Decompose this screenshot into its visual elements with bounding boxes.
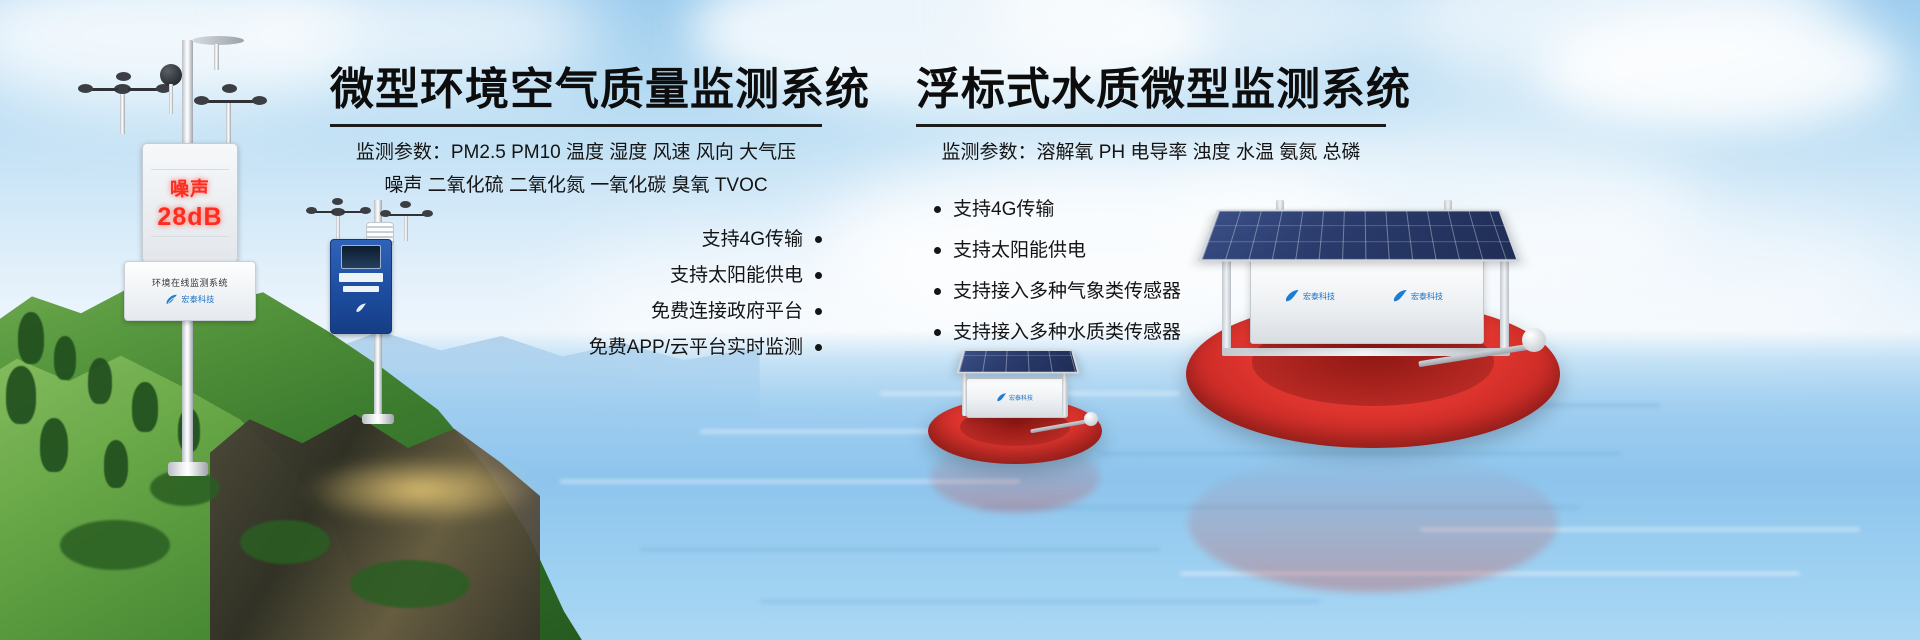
left-panel-title-underline	[330, 124, 822, 127]
list-item: 支持4G传输	[934, 200, 1386, 219]
right-text-panel: 浮标式水质微型监测系统 监测参数：溶解氧 PH 电导率 浊度 水温 氨氮 总磷 …	[916, 68, 1386, 364]
list-item: 支持太阳能供电	[934, 241, 1386, 260]
sensor-sphere-stem	[169, 84, 173, 114]
buoy-probe-head-small	[1084, 412, 1098, 426]
feature-label: 支持4G传输	[953, 200, 1054, 219]
sunlit-rock-highlight	[300, 455, 540, 525]
tree	[132, 382, 158, 432]
wind-vane-stem	[226, 100, 231, 144]
secondary-base	[362, 414, 394, 424]
buoy-frame-post-small	[962, 372, 967, 416]
list-item: 支持接入多种水质类传感器	[934, 323, 1386, 342]
shrub	[350, 560, 470, 608]
brand-logo-text: 宏泰科技	[1009, 393, 1033, 402]
feature-label: 支持太阳能供电	[670, 266, 803, 285]
bullet-dot-icon	[815, 308, 822, 315]
right-panel-params-line1: 监测参数：溶解氧 PH 电导率 浊度 水温 氨氮 总磷	[916, 139, 1386, 168]
tree	[104, 440, 128, 488]
tree	[18, 312, 44, 364]
wind-vane-cup	[252, 96, 267, 105]
station-plate-caption: 环境在线监测系统	[152, 276, 228, 289]
anemometer-stem	[120, 88, 125, 134]
noise-display-box: 噪声 28dB	[142, 143, 238, 263]
bullet-dot-icon	[815, 344, 822, 351]
buoy-frame-post-small	[1062, 372, 1067, 416]
brand-logo-text: 宏泰科技	[181, 294, 214, 305]
feature-label: 支持太阳能供电	[953, 241, 1086, 260]
right-panel-feature-list: 支持4G传输 支持太阳能供电 支持接入多种气象类传感器 支持接入多种水质类传感器	[916, 200, 1386, 342]
bullet-dot-icon	[934, 247, 941, 254]
brand-logo-text: 宏泰科技	[1411, 291, 1443, 302]
tree	[6, 366, 36, 424]
feature-label: 支持接入多种气象类传感器	[953, 282, 1181, 301]
list-item: 免费连接政府平台	[330, 302, 822, 321]
wind-vane-cup	[194, 96, 209, 105]
station-info-plate: 环境在线监测系统 宏泰科技	[124, 261, 256, 321]
solar-disc-stem	[214, 44, 219, 70]
right-panel-title-underline	[916, 124, 1386, 127]
left-text-panel: 微型环境空气质量监测系统 监测参数：PM2.5 PM10 温度 湿度 风速 风向…	[330, 68, 822, 374]
bullet-dot-icon	[934, 206, 941, 213]
brand-logo-icon	[1392, 288, 1408, 304]
list-item: 支持4G传输	[330, 230, 822, 249]
left-panel-params-line1: 监测参数：PM2.5 PM10 温度 湿度 风速 风向 大气压	[330, 139, 822, 168]
anemometer-cup	[116, 72, 131, 81]
feature-label: 免费连接政府平台	[651, 302, 803, 321]
brand-logo-icon	[996, 392, 1007, 403]
feature-label: 支持接入多种水质类传感器	[953, 323, 1181, 342]
feature-label: 免费APP/云平台实时监测	[589, 338, 803, 357]
left-panel-title: 微型环境空气质量监测系统	[330, 68, 822, 112]
wave-line	[760, 600, 1320, 603]
feature-label: 支持4G传输	[702, 230, 803, 249]
station-brand: 宏泰科技	[165, 293, 214, 306]
bullet-dot-icon	[934, 329, 941, 336]
brand-logo-icon	[165, 293, 178, 306]
list-item: 支持太阳能供电	[330, 266, 822, 285]
bullet-dot-icon	[815, 272, 822, 279]
promo-banner: 噪声 28dB 环境在线监测系统 宏泰科技	[0, 0, 1920, 640]
tree	[40, 418, 68, 472]
tree	[54, 336, 76, 380]
shrub	[240, 520, 330, 564]
station-base	[168, 462, 208, 476]
noise-display-label: 噪声	[170, 174, 210, 201]
buoy-small-brand: 宏泰科技	[996, 392, 1033, 403]
bullet-dot-icon	[815, 236, 822, 243]
noise-display-value: 28dB	[157, 203, 222, 232]
wind-vane-cup	[222, 84, 237, 93]
buoy-reflection-large	[1188, 452, 1558, 592]
buoy-housing-brand-right: 宏泰科技	[1392, 288, 1443, 304]
right-panel-title: 浮标式水质微型监测系统	[916, 68, 1386, 112]
tree	[88, 358, 112, 404]
wave-line	[640, 548, 1160, 551]
sensor-sphere	[160, 64, 182, 86]
left-panel-feature-list: 支持4G传输 支持太阳能供电 免费连接政府平台 免费APP/云平台实时监测	[330, 230, 822, 357]
list-item: 免费APP/云平台实时监测	[330, 338, 822, 357]
cloud-6	[1540, 10, 1900, 130]
bullet-dot-icon	[934, 288, 941, 295]
shrub	[60, 520, 170, 570]
anemometer-cup	[78, 84, 93, 93]
buoy-probe-head-large	[1522, 328, 1546, 352]
secondary-anemometer-cup	[306, 207, 317, 214]
list-item: 支持接入多种气象类传感器	[934, 282, 1386, 301]
left-panel-params-line2: 噪声 二氧化硫 二氧化氮 一氧化碳 臭氧 TVOC	[330, 172, 822, 201]
